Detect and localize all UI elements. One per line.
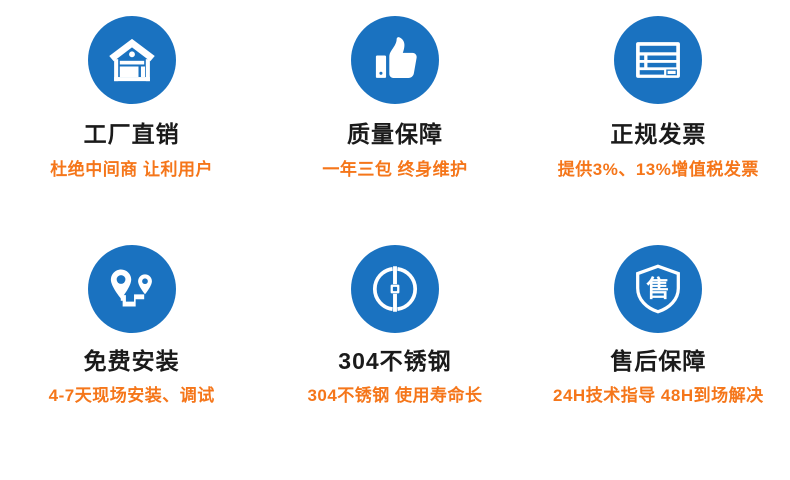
feature-cell-free-installation[interactable]: 免费安装 4-7天现场安装、调试 xyxy=(0,245,263,474)
feature-subtitle: 提供3%、13%增值税发票 xyxy=(558,161,759,180)
shield-after-sales-icon: 售 xyxy=(632,263,684,315)
map-route-pins-icon xyxy=(106,263,158,315)
thumbs-up-icon xyxy=(369,34,421,86)
feature-cell-stainless-steel[interactable]: 304不锈钢 304不锈钢 使用寿命长 xyxy=(263,245,526,474)
shield-glyph-text: 售 xyxy=(647,275,671,303)
icon-badge-invoice xyxy=(614,16,702,104)
icon-badge-shield: 售 xyxy=(614,245,702,333)
feature-title: 质量保障 xyxy=(347,122,443,147)
icon-badge-factory xyxy=(88,16,176,104)
feature-subtitle: 4-7天现场安装、调试 xyxy=(49,387,215,406)
icon-badge-quality xyxy=(351,16,439,104)
icon-badge-route xyxy=(88,245,176,333)
stainless-steel-ring-icon xyxy=(369,263,421,315)
feature-title: 售后保障 xyxy=(610,349,706,374)
feature-title: 正规发票 xyxy=(610,122,706,147)
icon-badge-stainless xyxy=(351,245,439,333)
feature-subtitle: 304不锈钢 使用寿命长 xyxy=(307,387,482,406)
feature-cell-official-invoice[interactable]: 正规发票 提供3%、13%增值税发票 xyxy=(527,16,790,245)
feature-cell-after-sales[interactable]: 售 售后保障 24H技术指导 48H到场解决 xyxy=(527,245,790,474)
feature-cell-factory-direct[interactable]: 工厂直销 杜绝中间商 让利用户 xyxy=(0,16,263,245)
feature-title: 304不锈钢 xyxy=(338,349,451,374)
invoice-document-icon xyxy=(632,34,684,86)
feature-cell-quality-guarantee[interactable]: 质量保障 一年三包 终身维护 xyxy=(263,16,526,245)
feature-subtitle: 24H技术指导 48H到场解决 xyxy=(553,387,764,406)
factory-warehouse-icon xyxy=(106,34,158,86)
feature-subtitle: 一年三包 终身维护 xyxy=(322,161,467,180)
feature-subtitle: 杜绝中间商 让利用户 xyxy=(50,161,213,180)
feature-grid: 工厂直销 杜绝中间商 让利用户 质量保障 一年三包 终身维护 xyxy=(0,0,790,480)
feature-title: 工厂直销 xyxy=(84,122,180,147)
feature-title: 免费安装 xyxy=(84,349,180,374)
